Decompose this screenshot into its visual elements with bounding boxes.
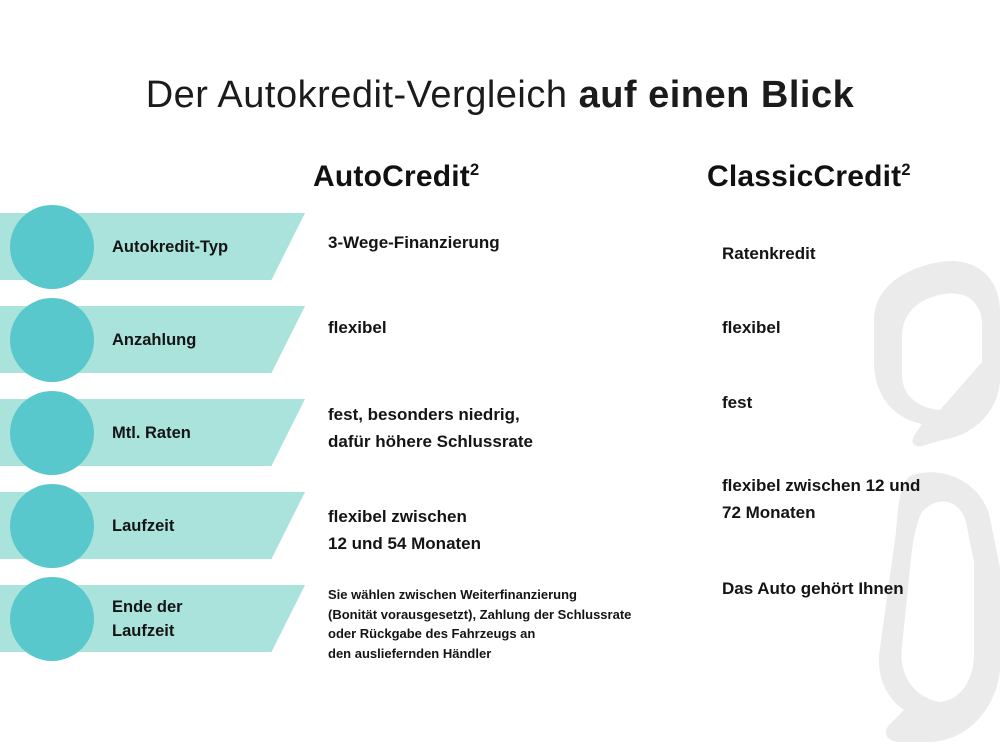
cell-autocredit-anzahlung: flexibel (328, 314, 703, 341)
cell-classiccredit-mtl-raten: fest (722, 389, 987, 416)
row-label-autokredit-typ: Autokredit-Typ (112, 235, 297, 259)
column-header-classiccredit-footnote: 2 (901, 161, 910, 179)
row-label-anzahlung: Anzahlung (112, 328, 297, 352)
page-title: Der Autokredit-Vergleich auf einen Blick (0, 72, 1000, 118)
row-dot-anzahlung (10, 298, 94, 382)
cell-classiccredit-autokredit-typ: Ratenkredit (722, 240, 987, 267)
row-dot-autokredit-typ (10, 205, 94, 289)
column-header-autocredit-footnote: 2 (470, 161, 479, 179)
row-label-laufzeit: Laufzeit (112, 514, 297, 538)
cell-autocredit-mtl-raten: fest, besonders niedrig, dafür höhere Sc… (328, 401, 703, 455)
row-dot-laufzeit (10, 484, 94, 568)
row-label-mtl-raten: Mtl. Raten (112, 421, 297, 445)
column-header-autocredit-label: AutoCredit (313, 160, 470, 193)
cell-autocredit-ende-der-laufzeit: Sie wählen zwischen Weiterfinanzierung (… (328, 585, 703, 663)
cell-classiccredit-ende-der-laufzeit: Das Auto gehört Ihnen (722, 575, 987, 602)
cell-autocredit-autokredit-typ: 3-Wege-Finanzierung (328, 229, 703, 256)
cell-classiccredit-laufzeit: flexibel zwischen 12 und 72 Monaten (722, 472, 987, 526)
page-title-bold: auf einen Blick (579, 74, 855, 116)
column-header-autocredit: AutoCredit2 (313, 160, 479, 194)
row-dot-ende-der-laufzeit (10, 577, 94, 661)
page-title-light: Der Autokredit-Vergleich (146, 74, 579, 116)
column-header-classiccredit: ClassicCredit2 (707, 160, 911, 194)
column-header-classiccredit-label: ClassicCredit (707, 160, 901, 193)
cell-autocredit-laufzeit: flexibel zwischen 12 und 54 Monaten (328, 503, 703, 557)
row-dot-mtl-raten (10, 391, 94, 475)
autokredit-vergleich-infographic: Der Autokredit-Vergleich auf einen Blick… (0, 0, 1000, 750)
cell-classiccredit-anzahlung: flexibel (722, 314, 987, 341)
row-label-ende-der-laufzeit: Ende der Laufzeit (112, 595, 297, 643)
